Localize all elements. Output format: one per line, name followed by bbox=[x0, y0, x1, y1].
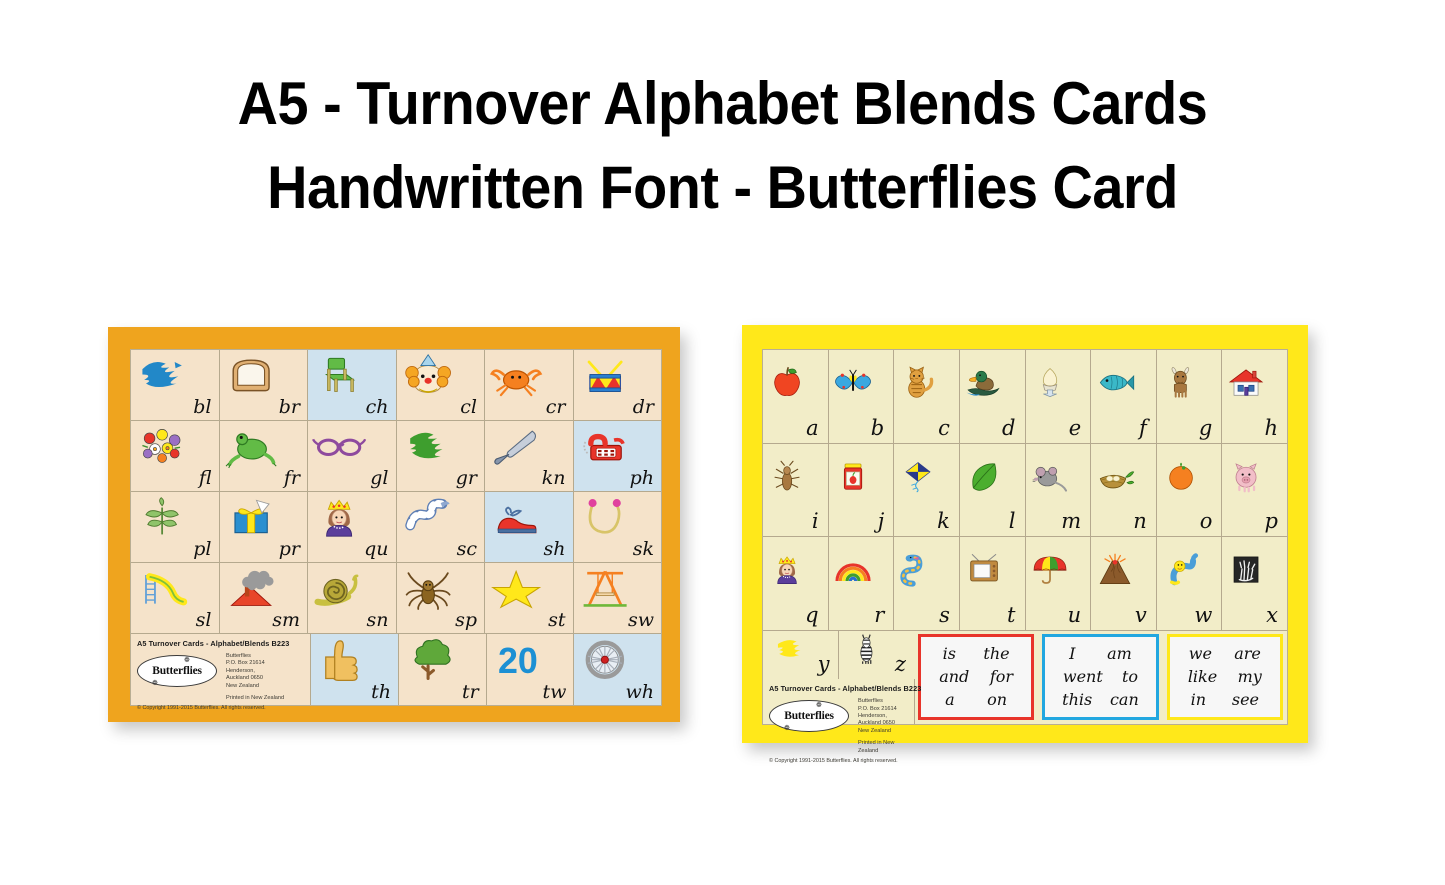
grid-cell-l[interactable]: l bbox=[960, 444, 1026, 538]
butterflies-logo: ❁Butterflies❁ bbox=[769, 700, 849, 732]
orange-icon bbox=[1161, 447, 1201, 506]
zebra-icon bbox=[843, 634, 890, 665]
footer-body: ❁Butterflies❁ButterfliesP.O. Box 21614He… bbox=[769, 698, 914, 755]
cell-label: d bbox=[1002, 418, 1024, 443]
cell-label: f bbox=[1139, 418, 1156, 443]
cell-label: fr bbox=[284, 469, 307, 491]
grid-cell-s[interactable]: s bbox=[894, 537, 960, 631]
alphabet-card-grid: abcdefghijklmnopqrstuvwxyzA5 Turnover Ca… bbox=[762, 349, 1288, 725]
cell-label: a bbox=[806, 418, 828, 443]
swing-icon bbox=[578, 566, 632, 611]
worm-icon bbox=[1161, 540, 1201, 599]
cell-label: sl bbox=[196, 611, 219, 633]
cell-label: h bbox=[1264, 418, 1287, 443]
cell-label: t bbox=[1007, 605, 1024, 630]
cell-label: wh bbox=[626, 683, 662, 705]
grid-cell-v[interactable]: v bbox=[1091, 537, 1157, 631]
wheel-icon bbox=[578, 637, 632, 682]
alphabet-tail-left: yzA5 Turnover Cards - Alphabet/Blends B2… bbox=[763, 631, 915, 725]
cat-icon bbox=[898, 353, 938, 412]
grid-cell-sp[interactable]: sp bbox=[397, 563, 486, 634]
address-line: P.O. Box 21614 bbox=[858, 706, 914, 713]
cell-label: n bbox=[1133, 511, 1156, 536]
cell-label: tw bbox=[542, 683, 573, 705]
jam-jar-icon bbox=[833, 447, 873, 506]
butterfly-icon: ❁ bbox=[152, 679, 158, 687]
cell-label: e bbox=[1069, 418, 1090, 443]
word-row: wentto bbox=[1053, 669, 1147, 685]
grid-cell-wh[interactable]: wh bbox=[574, 634, 661, 705]
goat-icon bbox=[1161, 353, 1201, 412]
word[interactable]: a bbox=[945, 692, 955, 708]
leaf-icon bbox=[964, 447, 1004, 506]
grid-cell-u[interactable]: u bbox=[1026, 537, 1092, 631]
grid-cell-ph[interactable]: ph bbox=[574, 421, 662, 492]
cell-label: kn bbox=[542, 469, 573, 491]
grid-cell-o[interactable]: o bbox=[1157, 444, 1223, 538]
grid-cell-sk[interactable]: sk bbox=[574, 492, 662, 563]
cell-label: cl bbox=[460, 398, 484, 420]
cell-label: u bbox=[1068, 605, 1091, 630]
egg-icon bbox=[1030, 353, 1070, 412]
grid-cell-gr[interactable]: gr bbox=[397, 421, 486, 492]
alphabet-footer-row: A5 Turnover Cards - Alphabet/Blends B223… bbox=[763, 679, 915, 724]
present-icon bbox=[224, 495, 278, 540]
word[interactable]: on bbox=[987, 692, 1007, 708]
cell-label: ch bbox=[366, 398, 396, 420]
grid-cell-b[interactable]: b bbox=[829, 350, 895, 444]
cell-label: ph bbox=[630, 469, 661, 491]
blends-row: slsmsn spstsw bbox=[131, 563, 661, 634]
word-row: weare bbox=[1178, 646, 1272, 662]
footer-address: ButterfliesP.O. Box 21614Henderson,Auckl… bbox=[858, 698, 914, 755]
volcano-icon bbox=[1095, 540, 1135, 599]
grid-cell-h[interactable]: h bbox=[1222, 350, 1287, 444]
word-row: thiscan bbox=[1053, 692, 1147, 708]
word[interactable]: for bbox=[990, 669, 1013, 685]
frog-icon bbox=[224, 424, 278, 469]
butterfly-icon: ❁ bbox=[184, 656, 190, 664]
pig-icon bbox=[1226, 447, 1266, 506]
cell-label: bl bbox=[193, 398, 218, 420]
footer-copyright: © Copyright 1991-2015 Butterflies. All r… bbox=[769, 758, 914, 764]
thumb-icon bbox=[315, 637, 369, 682]
address-line: Butterflies bbox=[226, 653, 284, 660]
slide-icon bbox=[135, 566, 189, 611]
star-icon bbox=[489, 566, 543, 611]
cell-label: o bbox=[1200, 511, 1222, 536]
word-row: isthe bbox=[929, 646, 1023, 662]
word[interactable]: are bbox=[1234, 646, 1261, 662]
address-line: Henderson, bbox=[858, 713, 914, 720]
grid-cell-sl[interactable]: sl bbox=[131, 563, 220, 634]
grid-cell-x[interactable]: x bbox=[1222, 537, 1287, 631]
blends-card[interactable]: blbrchclcrdr flfrglgrknphplprquscshsksls… bbox=[108, 327, 680, 722]
grid-cell-c[interactable]: c bbox=[894, 350, 960, 444]
word-row: aon bbox=[929, 692, 1023, 708]
rainbow-icon bbox=[833, 540, 873, 599]
grid-cell-th[interactable]: th bbox=[311, 634, 399, 705]
cell-label: s bbox=[939, 605, 959, 630]
phone-icon bbox=[578, 424, 632, 469]
word[interactable]: see bbox=[1232, 692, 1259, 708]
grid-cell-n[interactable]: n bbox=[1091, 444, 1157, 538]
word-box-red[interactable]: istheandforaon bbox=[918, 634, 1034, 721]
cell-label: z bbox=[895, 654, 915, 679]
word-row: andfor bbox=[929, 669, 1023, 685]
word-box-yellow[interactable]: wearelikemyinsee bbox=[1167, 634, 1283, 721]
television-icon bbox=[964, 540, 1004, 599]
cell-label: br bbox=[279, 398, 307, 420]
blue-scribble-icon bbox=[135, 353, 189, 398]
grid-cell-q[interactable]: q bbox=[763, 537, 829, 631]
cell-label: r bbox=[874, 605, 893, 630]
word-row: likemy bbox=[1178, 669, 1272, 685]
word[interactable]: and bbox=[939, 669, 969, 685]
word[interactable]: can bbox=[1110, 692, 1139, 708]
grid-cell-sc[interactable]: sc bbox=[397, 492, 486, 563]
word[interactable]: my bbox=[1238, 669, 1262, 685]
apple-icon bbox=[767, 353, 807, 412]
insect-icon bbox=[767, 447, 807, 506]
cell-label: gl bbox=[370, 469, 395, 491]
grid-cell-j[interactable]: j bbox=[829, 444, 895, 538]
cell-label: y bbox=[818, 654, 839, 679]
grid-cell-pr[interactable]: pr bbox=[220, 492, 309, 563]
shoe-icon bbox=[489, 495, 543, 540]
grid-cell-bl[interactable]: bl bbox=[131, 350, 220, 421]
footer-copyright: © Copyright 1991-2015 Butterflies. All r… bbox=[137, 705, 310, 711]
address-line: Henderson, bbox=[226, 668, 284, 675]
word[interactable]: the bbox=[983, 646, 1009, 662]
word[interactable]: is bbox=[943, 646, 956, 662]
butterflies-logo: ❁Butterflies❁ bbox=[137, 655, 217, 687]
yellow-scribble-icon bbox=[767, 634, 814, 665]
cell-label: pl bbox=[193, 540, 218, 562]
fish-icon bbox=[1095, 353, 1135, 412]
cell-label: x bbox=[1266, 605, 1287, 630]
blends-row: flfrglgrknph bbox=[131, 421, 661, 492]
grid-cell-a[interactable]: a bbox=[763, 350, 829, 444]
alphabet-card[interactable]: abcdefghijklmnopqrstuvwxyzA5 Turnover Ca… bbox=[742, 325, 1308, 743]
footer-printed: Printed in New Zealand bbox=[858, 740, 914, 755]
queen-icon bbox=[312, 495, 366, 540]
grid-cell-i[interactable]: i bbox=[763, 444, 829, 538]
footer-body: ❁Butterflies❁ButterfliesP.O. Box 21614He… bbox=[137, 653, 310, 702]
address-line: New Zealand bbox=[226, 683, 284, 690]
word-row: insee bbox=[1178, 692, 1272, 708]
grid-cell-tr[interactable]: tr bbox=[399, 634, 487, 705]
cell-label: p bbox=[1265, 511, 1287, 536]
grid-cell-cr[interactable]: cr bbox=[485, 350, 574, 421]
svg-text:20: 20 bbox=[498, 641, 538, 681]
snake-icon bbox=[898, 540, 938, 599]
clown-icon bbox=[401, 353, 455, 398]
drum-icon bbox=[578, 353, 632, 398]
cell-label: pr bbox=[279, 540, 307, 562]
grid-cell-kn[interactable]: kn bbox=[485, 421, 574, 492]
cell-label: v bbox=[1135, 605, 1156, 630]
word[interactable]: am bbox=[1107, 646, 1132, 662]
cell-label: tr bbox=[462, 683, 486, 705]
word-box-blue[interactable]: Iamwenttothiscan bbox=[1042, 634, 1158, 721]
cell-label: fl bbox=[199, 469, 219, 491]
queen-icon bbox=[767, 540, 807, 599]
snail-icon bbox=[312, 566, 366, 611]
grid-cell-g[interactable]: g bbox=[1157, 350, 1223, 444]
card-footer: A5 Turnover Cards - Alphabet/Blends B223… bbox=[131, 634, 311, 705]
page-title: A5 - Turnover Alphabet Blends Cards Hand… bbox=[0, 62, 1445, 230]
word[interactable]: in bbox=[1191, 692, 1206, 708]
mouse-icon bbox=[1030, 447, 1070, 506]
cell-label: sh bbox=[544, 540, 573, 562]
nest-icon bbox=[1095, 447, 1135, 506]
umbrella-icon bbox=[1030, 540, 1070, 599]
word[interactable]: this bbox=[1062, 692, 1092, 708]
footer-title: A5 Turnover Cards - Alphabet/Blends B223 bbox=[769, 684, 914, 693]
footer-printed: Printed in New Zealand bbox=[226, 695, 284, 702]
plant-icon bbox=[135, 495, 189, 540]
address-line: Auckland 0650 bbox=[226, 675, 284, 682]
alphabet-row-yz: yz bbox=[763, 631, 915, 680]
chair-icon bbox=[312, 353, 366, 398]
address-line: New Zealand bbox=[858, 728, 914, 735]
address-line: P.O. Box 21614 bbox=[226, 660, 284, 667]
cell-label: w bbox=[1194, 605, 1221, 630]
title-line-1: A5 - Turnover Alphabet Blends Cards bbox=[51, 62, 1395, 146]
crab-icon bbox=[489, 353, 543, 398]
kite-icon bbox=[898, 447, 938, 506]
footer-address: ButterfliesP.O. Box 21614Henderson,Auckl… bbox=[226, 653, 284, 702]
alphabet-row: ijklmnop bbox=[763, 444, 1287, 538]
knife-icon bbox=[489, 424, 543, 469]
grid-cell-r[interactable]: r bbox=[829, 537, 895, 631]
grid-cell-k[interactable]: k bbox=[894, 444, 960, 538]
grid-cell-fl[interactable]: fl bbox=[131, 421, 220, 492]
grid-cell-w[interactable]: w bbox=[1157, 537, 1223, 631]
grid-cell-sh[interactable]: sh bbox=[485, 492, 574, 563]
cell-label: sm bbox=[272, 611, 307, 633]
cell-label: sp bbox=[455, 611, 484, 633]
title-line-2: Handwritten Font - Butterflies Card bbox=[51, 146, 1395, 230]
cell-label: sc bbox=[457, 540, 484, 562]
grid-cell-br[interactable]: br bbox=[220, 350, 309, 421]
cell-label: sk bbox=[633, 540, 661, 562]
grid-cell-cl[interactable]: cl bbox=[397, 350, 486, 421]
word[interactable]: to bbox=[1122, 669, 1138, 685]
blends-card-grid: blbrchclcrdr flfrglgrknphplprquscshsksls… bbox=[130, 349, 662, 706]
grid-cell-qu[interactable]: qu bbox=[308, 492, 397, 563]
butterfly-icon: ❁ bbox=[816, 701, 822, 709]
blends-row: blbrchclcrdr bbox=[131, 350, 661, 421]
word[interactable]: went bbox=[1063, 669, 1103, 685]
xray-icon bbox=[1226, 540, 1266, 599]
word[interactable]: like bbox=[1188, 669, 1217, 685]
cell-label: c bbox=[938, 418, 959, 443]
cell-label: cr bbox=[546, 398, 573, 420]
skipping-rope-icon bbox=[578, 495, 632, 540]
word-row: Iam bbox=[1053, 646, 1147, 662]
grid-cell-y[interactable]: y bbox=[763, 631, 839, 680]
grid-cell-fr[interactable]: fr bbox=[220, 421, 309, 492]
grid-cell-pl[interactable]: pl bbox=[131, 492, 220, 563]
cell-label: j bbox=[878, 511, 894, 536]
grid-cell-st[interactable]: st bbox=[485, 563, 574, 634]
blends-row: A5 Turnover Cards - Alphabet/Blends B223… bbox=[131, 634, 661, 705]
word[interactable]: I bbox=[1069, 646, 1075, 662]
grid-cell-d[interactable]: d bbox=[960, 350, 1026, 444]
cell-label: sw bbox=[628, 611, 661, 633]
glasses-icon bbox=[312, 424, 366, 469]
cell-label: gr bbox=[456, 469, 484, 491]
grid-cell-t[interactable]: t bbox=[960, 537, 1026, 631]
card-footer: A5 Turnover Cards - Alphabet/Blends B223… bbox=[763, 679, 915, 724]
grid-cell-p[interactable]: p bbox=[1222, 444, 1287, 538]
duck-icon bbox=[964, 353, 1004, 412]
cell-label: i bbox=[812, 511, 828, 536]
word-boxes: istheandforaonIamwenttothiscanwearelikem… bbox=[915, 631, 1287, 725]
tree-icon bbox=[403, 637, 457, 682]
blends-row: plprquscshsk bbox=[131, 492, 661, 563]
cell-label: sn bbox=[367, 611, 396, 633]
alphabet-row: abcdefgh bbox=[763, 350, 1287, 444]
cell-label: dr bbox=[633, 398, 661, 420]
cell-label: l bbox=[1009, 511, 1025, 536]
flowers-icon bbox=[135, 424, 189, 469]
grid-cell-z[interactable]: z bbox=[839, 631, 914, 680]
cell-label: st bbox=[548, 611, 572, 633]
alphabet-row: qrstuvwx bbox=[763, 537, 1287, 631]
grid-cell-sn[interactable]: sn bbox=[308, 563, 397, 634]
cell-label: qu bbox=[364, 540, 395, 562]
scarf-icon bbox=[401, 495, 455, 540]
cell-label: k bbox=[937, 511, 959, 536]
grid-cell-e[interactable]: e bbox=[1026, 350, 1092, 444]
address-line: Auckland 0650 bbox=[858, 720, 914, 727]
alphabet-row: yzA5 Turnover Cards - Alphabet/Blends B2… bbox=[763, 631, 1287, 725]
cell-label: b bbox=[871, 418, 893, 443]
grid-cell-gl[interactable]: gl bbox=[308, 421, 397, 492]
word[interactable]: we bbox=[1189, 646, 1212, 662]
cell-label: th bbox=[371, 683, 398, 705]
grid-cell-ch[interactable]: ch bbox=[308, 350, 397, 421]
grid-cell-sw[interactable]: sw bbox=[574, 563, 662, 634]
bread-icon bbox=[224, 353, 278, 398]
cell-label: m bbox=[1061, 511, 1090, 536]
footer-title: A5 Turnover Cards - Alphabet/Blends B223 bbox=[137, 639, 310, 648]
house-icon bbox=[1226, 353, 1266, 412]
logo-text: Butterflies bbox=[784, 710, 834, 722]
address-line: Butterflies bbox=[858, 698, 914, 705]
grid-cell-m[interactable]: m bbox=[1026, 444, 1092, 538]
green-scribble-icon bbox=[401, 424, 455, 469]
twenty-icon: 20 bbox=[491, 637, 545, 682]
butterfly-icon bbox=[833, 353, 873, 412]
grid-cell-tw[interactable]: 20tw bbox=[487, 634, 575, 705]
cell-label: g bbox=[1199, 418, 1221, 443]
spider-icon bbox=[401, 566, 455, 611]
smoke-icon bbox=[224, 566, 278, 611]
butterfly-icon: ❁ bbox=[784, 724, 790, 732]
grid-cell-f[interactable]: f bbox=[1091, 350, 1157, 444]
grid-cell-dr[interactable]: dr bbox=[574, 350, 662, 421]
grid-cell-sm[interactable]: sm bbox=[220, 563, 309, 634]
cell-label: q bbox=[805, 605, 827, 630]
logo-text: Butterflies bbox=[152, 665, 202, 677]
